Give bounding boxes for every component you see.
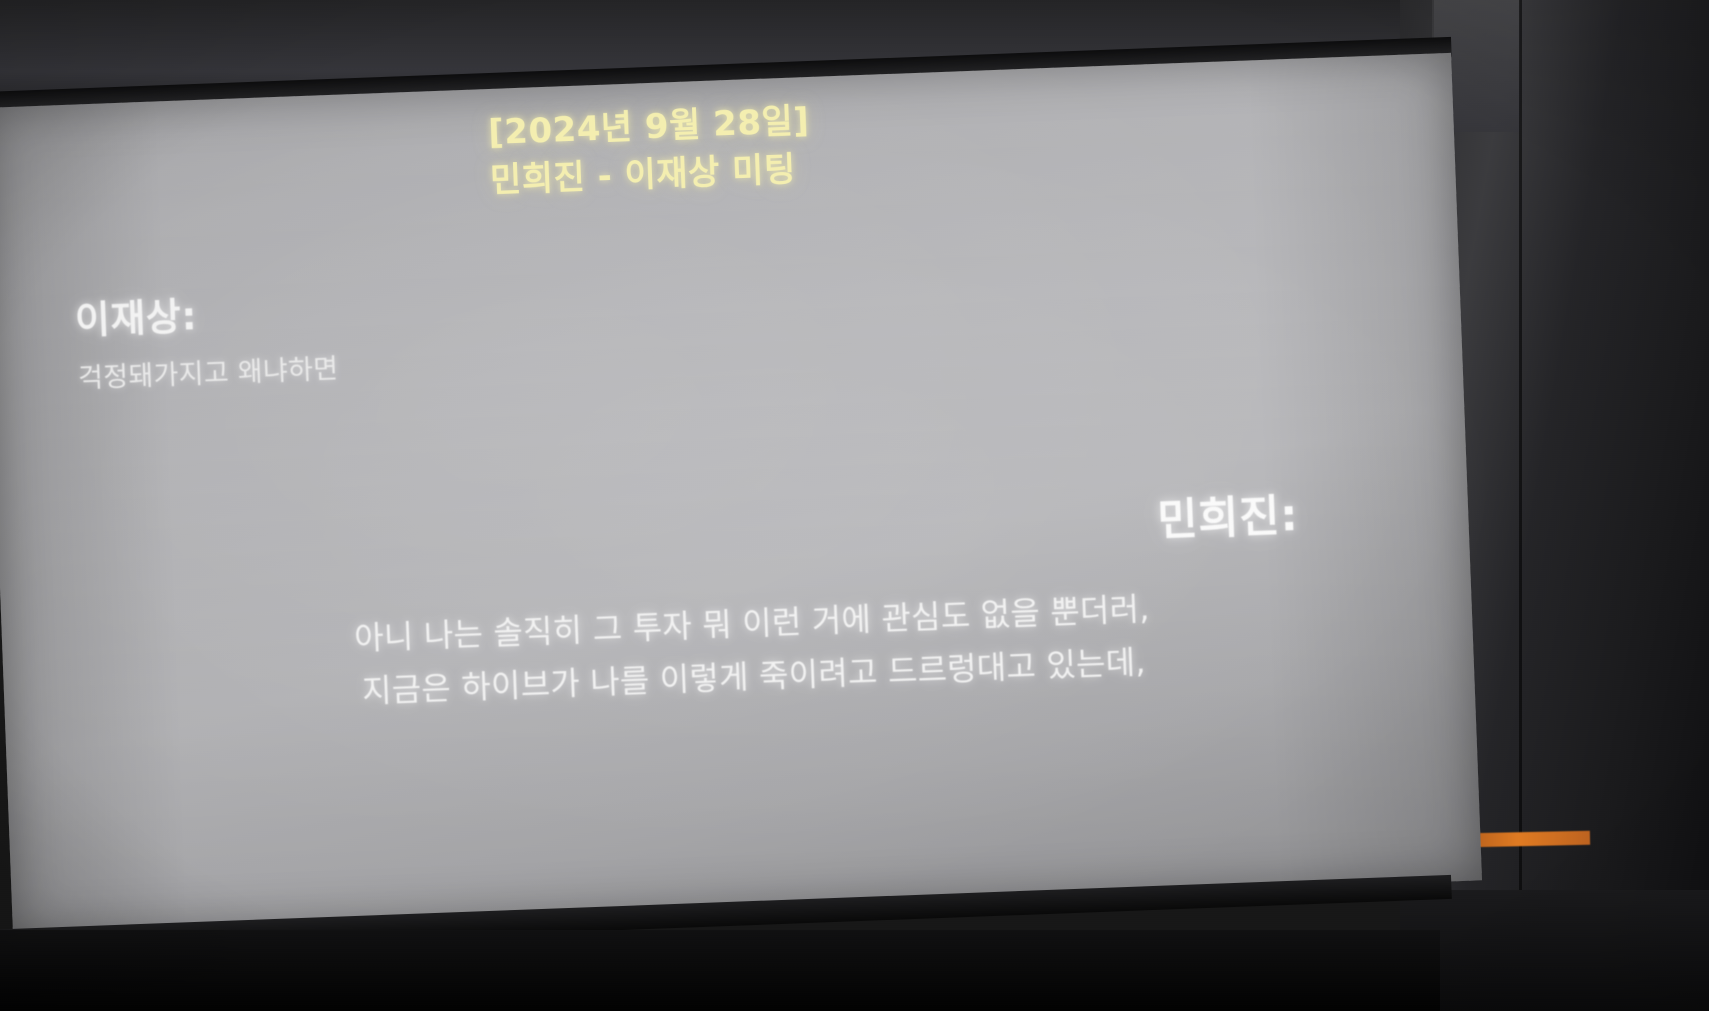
projected-slide: [2024년 9월 28일] 민희진 - 이재상 미팅 이재상: 걱정돼가지고 … — [0, 53, 1482, 936]
projection-screen-area: [2024년 9월 28일] 민희진 - 이재상 미팅 이재상: 걱정돼가지고 … — [0, 0, 1440, 1011]
slide-title-block: [2024년 9월 28일] 민희진 - 이재상 미팅 — [487, 83, 1190, 206]
orange-accent-strip — [1470, 831, 1590, 848]
presentation-room-scene: [2024년 9월 28일] 민희진 - 이재상 미팅 이재상: 걱정돼가지고 … — [0, 0, 1709, 1011]
speaker-a-dialogue-line-1: 걱정돼가지고 왜냐하면 — [77, 347, 339, 396]
speaker-label-lee-jaesang: 이재상: — [74, 285, 198, 345]
speaker-b-dialogue-block: 아니 나는 솔직히 그 투자 뭐 이런 거에 관심도 없을 뿐더러, 지금은 하… — [201, 577, 1304, 724]
floor-shadow-area — [0, 930, 1440, 1011]
wall-seam-right — [1519, 0, 1522, 1011]
lower-right-dark-band — [1400, 890, 1709, 1011]
speaker-label-min-heejin: 민희진: — [757, 479, 1299, 563]
